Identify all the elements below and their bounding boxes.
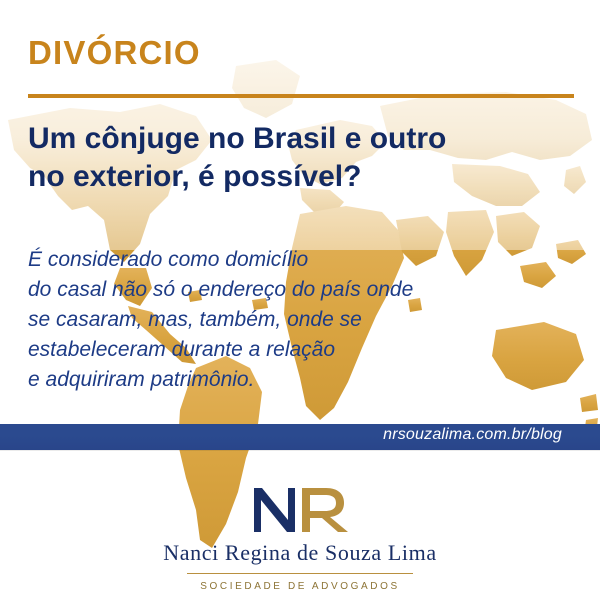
brand-name: Nanci Regina de Souza Lima — [0, 540, 600, 566]
monogram-nr-icon — [0, 480, 600, 538]
body-line-4: estabeleceram durante a relação — [28, 335, 548, 365]
social-media-card: DIVÓRCIO Um cônjuge no Brasil e outro no… — [0, 0, 600, 600]
body-line-5: e adquiriram patrimônio. — [28, 365, 548, 395]
brand-logo: Nanci Regina de Souza Lima SOCIEDADE DE … — [0, 480, 600, 592]
gold-divider — [28, 94, 574, 98]
logo-divider — [187, 573, 413, 574]
website-url[interactable]: nrsouzalima.com.br/blog — [383, 426, 562, 444]
headline-line-1: Um cônjuge no Brasil e outro — [28, 120, 588, 158]
body-paragraph: É considerado como domicílio do casal nã… — [28, 245, 548, 395]
page-kicker: DIVÓRCIO — [28, 34, 201, 72]
body-line-3: se casaram, mas, também, onde se — [28, 305, 548, 335]
brand-subtitle: SOCIEDADE DE ADVOGADOS — [0, 581, 600, 592]
body-line-1: É considerado como domicílio — [28, 245, 548, 275]
headline-line-2: no exterior, é possível? — [28, 158, 588, 196]
body-line-2: do casal não só o endereço do país onde — [28, 275, 548, 305]
page-title: Um cônjuge no Brasil e outro no exterior… — [28, 120, 588, 196]
